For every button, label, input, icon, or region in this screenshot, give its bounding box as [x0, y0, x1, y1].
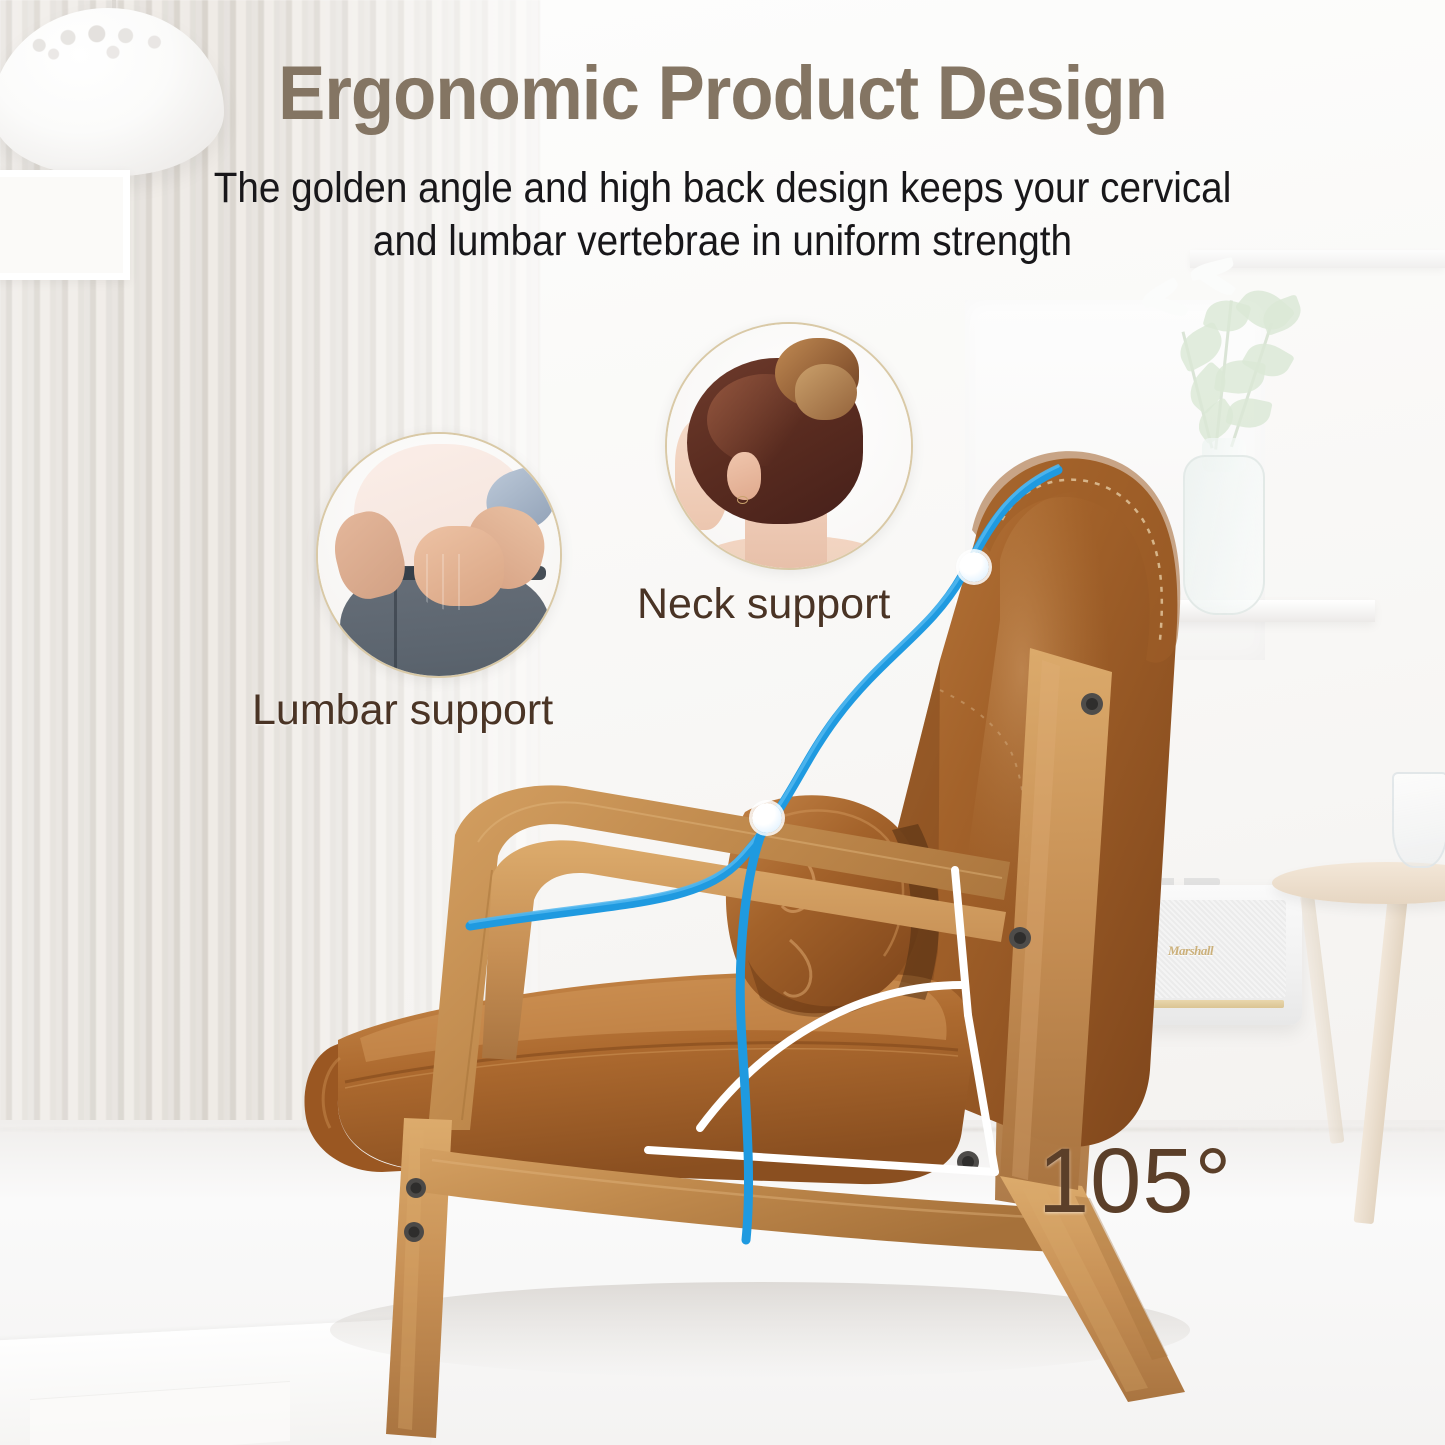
angle-value-label: 105° [1038, 1129, 1232, 1234]
neck-support-inset-image [665, 322, 913, 570]
page-subtitle: The golden angle and high back design ke… [72, 162, 1373, 269]
subtitle-line-2: and lumbar vertebrae in uniform strength [72, 215, 1373, 268]
inset-trouser-seam [394, 582, 397, 678]
subtitle-line-1: The golden angle and high back design ke… [72, 162, 1373, 215]
inset-earring [737, 496, 748, 504]
product-infographic: Marshall [0, 0, 1445, 1445]
inset-hair-bun-inner [795, 364, 857, 420]
page-title: Ergonomic Product Design [51, 56, 1395, 132]
neck-support-label: Neck support [637, 580, 890, 629]
inset-ear [727, 452, 761, 500]
lumbar-support-label: Lumbar support [252, 686, 553, 735]
lumbar-support-inset-image [316, 432, 562, 678]
inset-fingers [420, 554, 500, 610]
